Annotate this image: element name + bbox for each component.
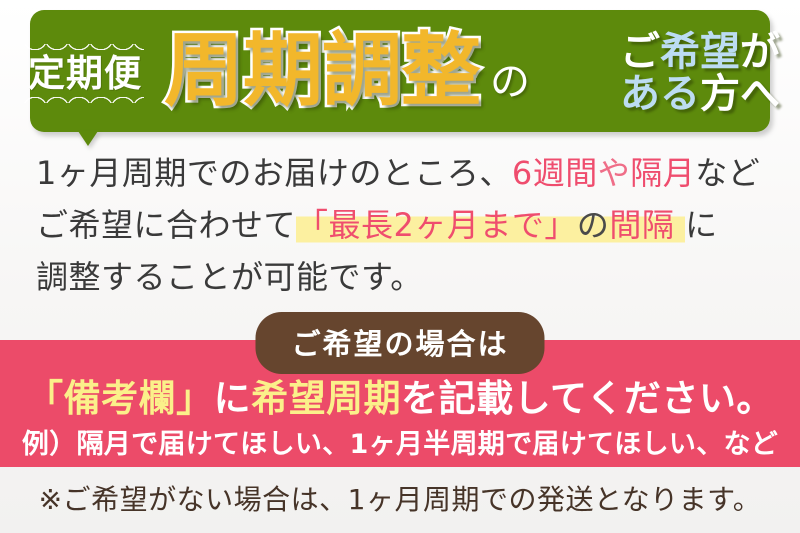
wish-line-1: ご希望が — [620, 31, 780, 73]
body-line2-highlight-pad — [674, 206, 685, 244]
body-line1-tail: など — [695, 154, 760, 192]
instruction-action: を記載してください。 — [401, 377, 774, 420]
wish-particle: が — [740, 29, 780, 75]
header-title-particle: の — [490, 62, 530, 102]
header-content: 定期便 周期調整 の ご希望が ある方へ — [0, 0, 800, 146]
instruction-particle: に — [214, 377, 252, 420]
body-line1-highlight-2: 隔月 — [630, 154, 695, 192]
body-line1-conjunction: や — [598, 154, 631, 192]
promo-banner: 定期便 周期調整 の ご希望が ある方へ 1ヶ月周期でのお届けのところ、6週間や… — [0, 0, 800, 533]
wish-target: 方へ — [700, 71, 780, 117]
body-line2-highlight-quote: 「最長2ヶ月まで」 — [296, 206, 577, 244]
body-line2-highlight-particle: の — [577, 206, 610, 244]
banner-header: 定期便 周期調整 の ご希望が ある方へ — [0, 0, 800, 146]
body-line2-tail: に — [685, 206, 718, 244]
body-line1-highlight-1: 6週間 — [512, 154, 598, 192]
instruction-headline: 「備考欄」に希望周期を記載してください。 — [0, 368, 800, 422]
body-line2-highlight-interval: 間隔 — [609, 206, 674, 244]
header-title: 周期調整 — [164, 31, 480, 115]
wish-verb: ある — [620, 71, 700, 117]
wish-keyword: 希望 — [660, 29, 740, 75]
instruction-field-name: 「備考欄」 — [26, 377, 214, 420]
footer-note: ※ご希望がない場合は、1ヶ月周期での発送となります。 — [0, 478, 800, 518]
instruction-keyword: 希望周期 — [251, 377, 401, 420]
body-line1-lead: 1ヶ月周期でのお届けのところ、 — [36, 154, 512, 192]
wish-callout: ご希望が ある方へ — [620, 31, 780, 116]
status-badge: ご希望の場合は — [255, 312, 544, 374]
wish-line-2: ある方へ — [620, 73, 780, 115]
body-copy: 1ヶ月周期でのお届けのところ、6週間や隔月など ご希望に合わせて「最長2ヶ月まで… — [0, 148, 800, 303]
instruction-example: 例）隔月で届けてほしい、1ヶ月半周期で届けてほしい、など — [0, 422, 800, 461]
body-line2-lead: ご希望に合わせて — [36, 206, 296, 244]
body-line-2: ご希望に合わせて「最長2ヶ月まで」の間隔 に — [36, 200, 764, 252]
body-line-1: 1ヶ月周期でのお届けのところ、6週間や隔月など — [36, 148, 764, 200]
subscription-tag: 定期便 — [22, 42, 146, 105]
wish-prefix: ご — [620, 29, 660, 75]
body-line-3: 調整することが可能です。 — [36, 252, 764, 304]
